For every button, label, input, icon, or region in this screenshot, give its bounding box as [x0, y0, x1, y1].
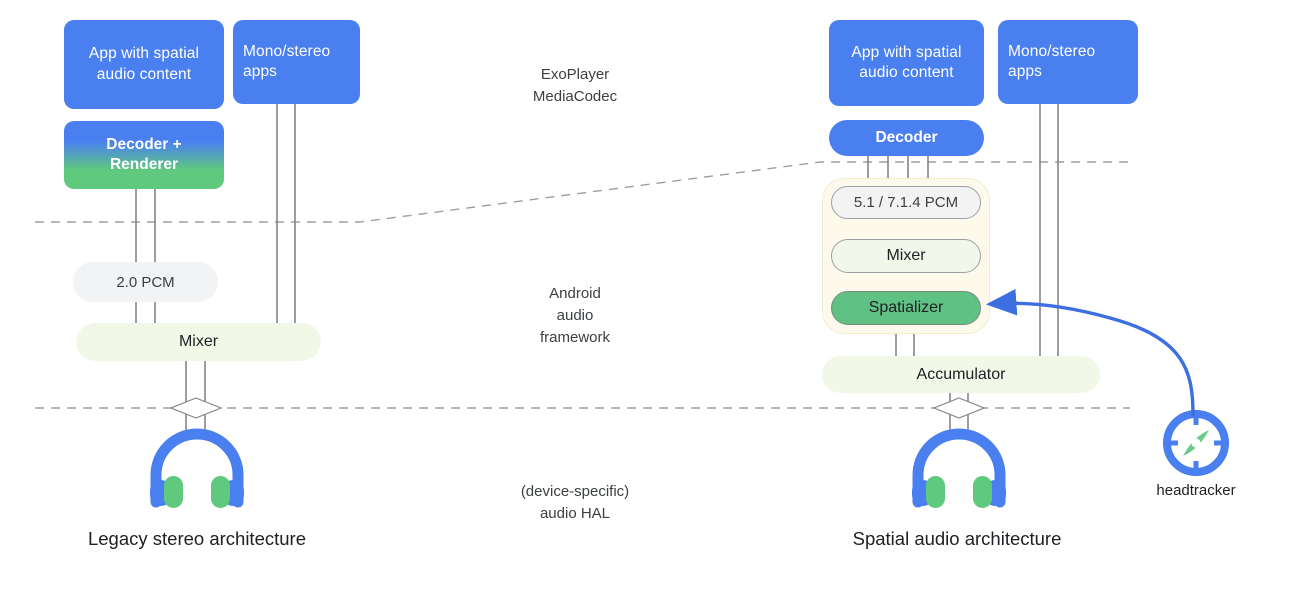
headphones-icon-right — [908, 428, 1010, 508]
left-pcm-label: 2.0 PCM — [116, 274, 174, 291]
right-accumulator-box: Accumulator — [822, 356, 1100, 393]
hal-diamond-right — [934, 398, 984, 418]
headtracker-label: headtracker — [1116, 482, 1276, 499]
headtracker-compass-icon[interactable] — [1158, 405, 1234, 481]
right-caption: Spatial audio architecture — [760, 528, 1154, 550]
left-caption: Legacy stereo architecture — [0, 528, 394, 550]
layer-label-audio-hal: (device-specific) audio HAL — [455, 481, 695, 525]
right-mono-stereo-box[interactable]: Mono/stereo apps — [998, 20, 1138, 104]
left-mixer-label: Mixer — [179, 333, 218, 351]
right-decoder-label: Decoder — [875, 129, 937, 147]
right-mono-stereo-label: Mono/stereo apps — [998, 42, 1138, 83]
left-app-spatial-label: App with spatial audio content — [89, 44, 199, 85]
right-mixer-label: Mixer — [886, 247, 925, 265]
right-spatializer-label: Spatializer — [869, 299, 944, 317]
layer-label-exoplayer: ExoPlayer MediaCodec — [455, 64, 695, 108]
right-pcm-label: 5.1 / 7.1.4 PCM — [854, 194, 958, 211]
right-app-spatial-label: App with spatial audio content — [851, 43, 961, 84]
right-app-spatial-box[interactable]: App with spatial audio content — [829, 20, 984, 106]
hal-diamond-left — [171, 398, 221, 418]
left-decoder-renderer-label: Decoder + Renderer — [106, 135, 181, 176]
left-mono-stereo-label: Mono/stereo apps — [233, 42, 360, 83]
left-pcm-box: 2.0 PCM — [73, 262, 218, 302]
right-accumulator-label: Accumulator — [917, 366, 1006, 384]
right-pcm-box: 5.1 / 7.1.4 PCM — [831, 186, 981, 219]
right-decoder-box[interactable]: Decoder — [829, 120, 984, 156]
headphones-icon-left — [146, 428, 248, 508]
layer-label-android-audio-framework: Android audio framework — [455, 283, 695, 348]
diagram-canvas: App with spatial audio content Mono/ster… — [0, 0, 1300, 594]
left-decoder-renderer-box[interactable]: Decoder + Renderer — [64, 121, 224, 189]
left-mono-stereo-box[interactable]: Mono/stereo apps — [233, 20, 360, 104]
left-app-spatial-box[interactable]: App with spatial audio content — [64, 20, 224, 109]
right-mixer-box: Mixer — [831, 239, 981, 273]
right-spatializer-box: Spatializer — [831, 291, 981, 325]
left-mixer-box: Mixer — [76, 323, 321, 361]
